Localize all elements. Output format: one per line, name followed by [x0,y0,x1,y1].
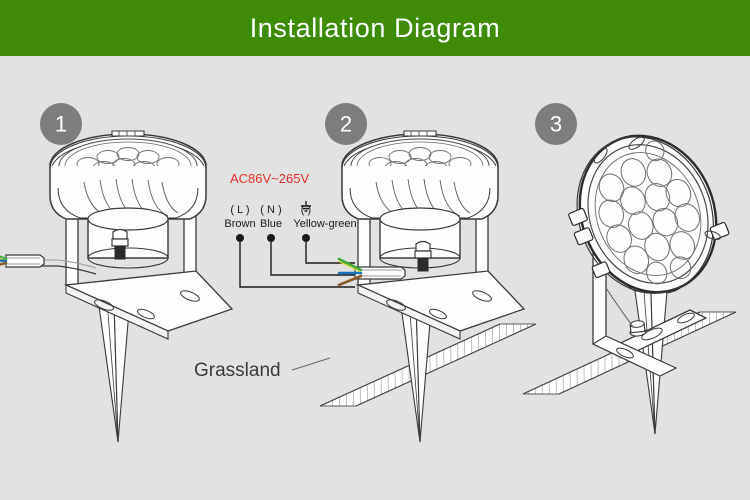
wire-label-brown: Brown [224,218,255,230]
terminal-dot-l [236,234,244,242]
lead-line-brown [240,242,355,287]
fixture-1-cable-end [0,247,44,271]
terminal-symbol-n: ( N ) [260,204,281,216]
fixture-3-cable-run [606,288,634,328]
grassland-label: Grassland [194,360,281,381]
wire-label-blue: Blue [260,218,282,230]
diagram-canvas: 1 [0,56,750,500]
page-title: Installation Diagram [250,13,501,44]
step-badge-2-label: 2 [340,112,352,137]
step-badge-3-label: 3 [550,112,562,137]
fixture-2-cable-gland [415,242,431,272]
fixture-3-lamp [548,114,741,316]
step-3-group: 3 [523,103,742,434]
terminal-dot-n [267,234,275,242]
lead-line-ground [306,242,355,263]
wire-label-yellow-green: Yellow-green [293,218,356,230]
step-2-group: 2 [194,103,536,442]
step-badge-1-label: 1 [55,112,67,137]
fixture-3-cable-gland [629,320,647,337]
terminal-dot-ground [302,234,310,242]
step-1-group: 1 [0,103,232,442]
terminal-symbol-l: ( L ) [230,204,249,216]
grassland-leader-line [292,358,330,370]
header-banner: Installation Diagram [0,0,750,56]
installation-diagram-page: Installation Diagram [0,0,750,500]
voltage-label: AC86V~265V [230,171,309,186]
grassland-annotation: Grassland [194,358,330,381]
diagram-svg: 1 [0,56,750,500]
lead-line-blue [271,242,355,275]
ground-symbol-icon: ( ) [301,201,311,216]
